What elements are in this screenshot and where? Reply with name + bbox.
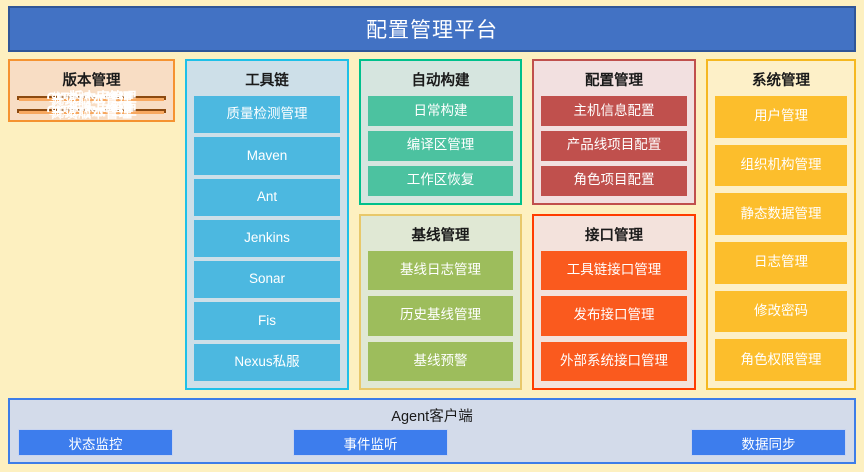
list-item[interactable]: Maven: [194, 137, 340, 174]
list-item[interactable]: 静态数据管理: [715, 193, 847, 235]
panel-body-config-management: 主机信息配置 产品线项目配置 角色项目配置: [541, 96, 687, 196]
event-listener-button[interactable]: 事件监听: [293, 429, 448, 456]
list-item[interactable]: 历史基线管理: [368, 296, 513, 335]
configuration-management-platform-diagram: 配置管理平台 版本管理 GIT版本库管理 生产版本管理 测试版本管理 开发版本管…: [0, 0, 864, 472]
list-item[interactable]: 产品线项目配置: [541, 131, 687, 161]
panel-body-system-management: 用户管理 组织机构管理 静态数据管理 日志管理 修改密码 角色权限管理: [715, 96, 847, 381]
version-group-1: GIT版本库管理 生产版本管理 测试版本管理 开发版本管理: [17, 96, 166, 100]
list-item[interactable]: 编译区管理: [368, 131, 513, 161]
panel-config-management[interactable]: 配置管理 主机信息配置 产品线项目配置 角色项目配置: [532, 59, 696, 205]
panel-version-management[interactable]: 版本管理 GIT版本库管理 生产版本管理 测试版本管理 开发版本管理 GIT版本…: [8, 59, 175, 122]
list-item[interactable]: 日志管理: [715, 242, 847, 284]
agent-client-buttons: 状态监控 事件监听 数据同步: [18, 429, 846, 456]
column-toolchain: 工具链 质量检测管理 Maven Ant Jenkins Sonar Fis N…: [185, 59, 349, 390]
page-title-text: 配置管理平台: [366, 14, 498, 44]
list-item[interactable]: Sonar: [194, 261, 340, 298]
list-item[interactable]: 角色项目配置: [541, 166, 687, 196]
panel-baseline-management[interactable]: 基线管理 基线日志管理 历史基线管理 基线预警: [359, 214, 522, 390]
panel-body-toolchain: 质量检测管理 Maven Ant Jenkins Sonar Fis Nexus…: [194, 96, 340, 381]
list-item[interactable]: 修改密码: [715, 291, 847, 333]
data-sync-button[interactable]: 数据同步: [691, 429, 846, 456]
list-item[interactable]: 基线预警: [368, 342, 513, 381]
column-config-api: 配置管理 主机信息配置 产品线项目配置 角色项目配置 接口管理 工具链接口管理 …: [532, 59, 696, 390]
column-version-management: 版本管理 GIT版本库管理 生产版本管理 测试版本管理 开发版本管理 GIT版本…: [8, 59, 175, 390]
list-item[interactable]: 外部系统接口管理: [541, 342, 687, 381]
list-item[interactable]: 角色权限管理: [715, 339, 847, 381]
list-item[interactable]: 基线日志管理: [368, 251, 513, 290]
panel-auto-build[interactable]: 自动构建 日常构建 编译区管理 工作区恢复: [359, 59, 522, 205]
panel-body-version-management: GIT版本库管理 生产版本管理 测试版本管理 开发版本管理 GIT版本库管理 生…: [17, 96, 166, 113]
list-item[interactable]: 组织机构管理: [715, 145, 847, 187]
module-columns: 版本管理 GIT版本库管理 生产版本管理 测试版本管理 开发版本管理 GIT版本…: [8, 59, 856, 390]
list-item[interactable]: Nexus私服: [194, 344, 340, 381]
page-title: 配置管理平台: [8, 6, 856, 52]
list-item[interactable]: Ant: [194, 179, 340, 216]
panel-title-baseline-management: 基线管理: [368, 221, 513, 251]
panel-title-auto-build: 自动构建: [368, 66, 513, 96]
version-group-2: GIT版本库管理 生产版本管理 测试版本管理 开发版本管理: [17, 109, 166, 113]
list-item[interactable]: 日常构建: [368, 96, 513, 126]
list-item[interactable]: 质量检测管理: [194, 96, 340, 133]
panel-toolchain[interactable]: 工具链 质量检测管理 Maven Ant Jenkins Sonar Fis N…: [185, 59, 349, 390]
agent-client-panel: Agent客户端 状态监控 事件监听 数据同步: [8, 398, 856, 464]
column-build-baseline: 自动构建 日常构建 编译区管理 工作区恢复 基线管理 基线日志管理 历史基线管理…: [359, 59, 522, 390]
list-item[interactable]: 用户管理: [715, 96, 847, 138]
panel-title-config-management: 配置管理: [541, 66, 687, 96]
panel-title-system-management: 系统管理: [715, 66, 847, 96]
panel-system-management[interactable]: 系统管理 用户管理 组织机构管理 静态数据管理 日志管理 修改密码 角色权限管理: [706, 59, 856, 390]
list-item[interactable]: Fis: [194, 302, 340, 339]
list-item[interactable]: 工具链接口管理: [541, 251, 687, 290]
column-system-management: 系统管理 用户管理 组织机构管理 静态数据管理 日志管理 修改密码 角色权限管理: [706, 59, 856, 390]
list-item[interactable]: 工作区恢复: [368, 166, 513, 196]
panel-body-api-management: 工具链接口管理 发布接口管理 外部系统接口管理: [541, 251, 687, 381]
list-item[interactable]: 发布接口管理: [541, 296, 687, 335]
agent-client-title: Agent客户端: [18, 403, 846, 429]
list-item[interactable]: 主机信息配置: [541, 96, 687, 126]
panel-api-management[interactable]: 接口管理 工具链接口管理 发布接口管理 外部系统接口管理: [532, 214, 696, 390]
panel-body-auto-build: 日常构建 编译区管理 工作区恢复: [368, 96, 513, 196]
panel-body-baseline-management: 基线日志管理 历史基线管理 基线预警: [368, 251, 513, 381]
status-monitor-button[interactable]: 状态监控: [18, 429, 173, 456]
panel-title-toolchain: 工具链: [194, 66, 340, 96]
list-item[interactable]: Jenkins: [194, 220, 340, 257]
panel-title-api-management: 接口管理: [541, 221, 687, 251]
